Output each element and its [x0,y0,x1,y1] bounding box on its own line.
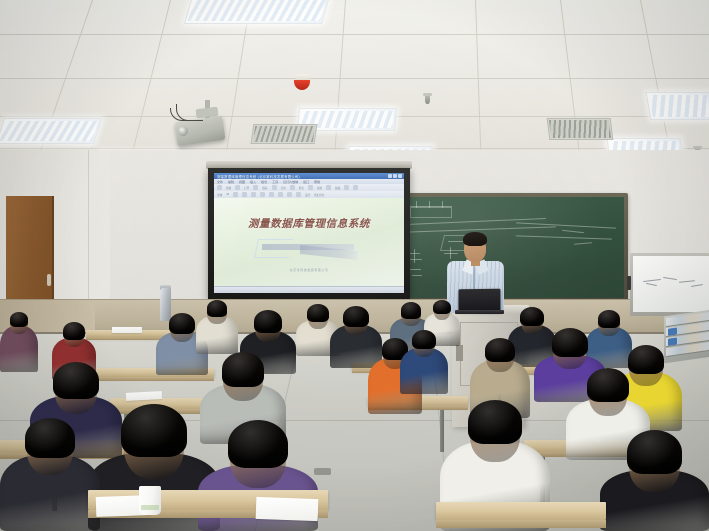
attendee-navy-left-mid [400,330,448,394]
person-hair [63,322,85,340]
desk [436,502,606,520]
person-hair [520,307,544,326]
person-hair [401,302,422,319]
person-hair [468,400,523,444]
paper-cup [139,486,161,515]
person-hair [598,310,621,328]
person-hair [222,352,265,387]
person-hair [25,418,75,458]
person-hair [412,330,436,349]
person-hair [169,313,195,334]
person-hair [121,404,187,457]
person-hair [627,430,681,474]
person-hair [53,362,99,399]
classroom-photo: 测量数据库管理信息系统 (北京某科技发展有限公司) 文件 编辑 视图 插入 格式… [0,0,709,531]
person-hair [433,300,451,314]
attendee-white-shirt-back [196,300,238,354]
person-hair [552,328,588,357]
desk-edge [436,520,606,528]
person-hair [307,304,329,322]
person-hair [228,420,288,468]
handout-paper [256,497,319,521]
person-hair [587,368,629,402]
attendee-black-right-fore [600,430,709,531]
person-hair [10,312,29,327]
person-hair [207,300,228,317]
person-hair [343,306,369,327]
person-hair [485,338,515,362]
attendee-front-left-face [0,418,100,531]
audience [0,0,709,531]
person-hair [254,310,282,333]
